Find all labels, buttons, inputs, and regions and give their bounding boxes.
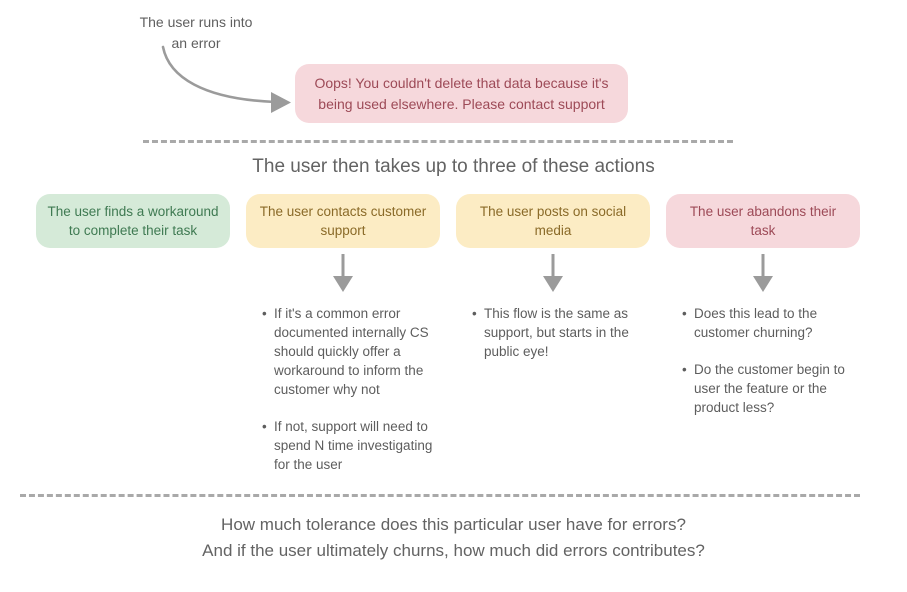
footer-question-line-1: How much tolerance does this particular … — [0, 512, 907, 538]
divider-top — [143, 140, 733, 143]
action-box-label: The user finds a workaround to complete … — [46, 202, 220, 240]
down-arrow-icon — [332, 254, 354, 294]
bullet-list-customer-support: If it's a common error documented intern… — [246, 304, 440, 474]
bullet-item: Does this lead to the customer churning? — [684, 304, 860, 342]
bullet-list-social-media: This flow is the same as support, but st… — [456, 304, 650, 361]
down-arrow-icon — [752, 254, 774, 294]
column-abandons-task: The user abandons their task Does this l… — [666, 194, 860, 492]
curved-arrow-icon — [155, 45, 315, 120]
bullet-item: Do the customer begin to user the featur… — [684, 360, 860, 417]
action-box-customer-support[interactable]: The user contacts customer support — [246, 194, 440, 248]
action-box-label: The user posts on social media — [466, 202, 640, 240]
down-arrow-icon — [542, 254, 564, 294]
bullet-list-abandons-task: Does this lead to the customer churning?… — [666, 304, 860, 417]
action-columns: The user finds a workaround to complete … — [36, 194, 872, 492]
bullet-item: If not, support will need to spend N tim… — [264, 417, 440, 474]
section-heading: The user then takes up to three of these… — [0, 156, 907, 178]
column-customer-support: The user contacts customer support If it… — [246, 194, 440, 492]
bullet-item: If it's a common error documented intern… — [264, 304, 440, 399]
action-box-social-media[interactable]: The user posts on social media — [456, 194, 650, 248]
footer-question-line-2: And if the user ultimately churns, how m… — [0, 538, 907, 564]
error-message-banner: Oops! You couldn't delete that data beca… — [295, 64, 628, 123]
bullet-item: This flow is the same as support, but st… — [474, 304, 650, 361]
action-box-abandons-task[interactable]: The user abandons their task — [666, 194, 860, 248]
action-box-label: The user abandons their task — [676, 202, 850, 240]
action-box-label: The user contacts customer support — [256, 202, 430, 240]
column-social-media: The user posts on social media This flow… — [456, 194, 650, 492]
error-message-text: Oops! You couldn't delete that data beca… — [313, 73, 610, 115]
divider-bottom — [20, 494, 860, 497]
footer-question: How much tolerance does this particular … — [0, 512, 907, 564]
column-workaround: The user finds a workaround to complete … — [36, 194, 230, 492]
action-box-workaround[interactable]: The user finds a workaround to complete … — [36, 194, 230, 248]
